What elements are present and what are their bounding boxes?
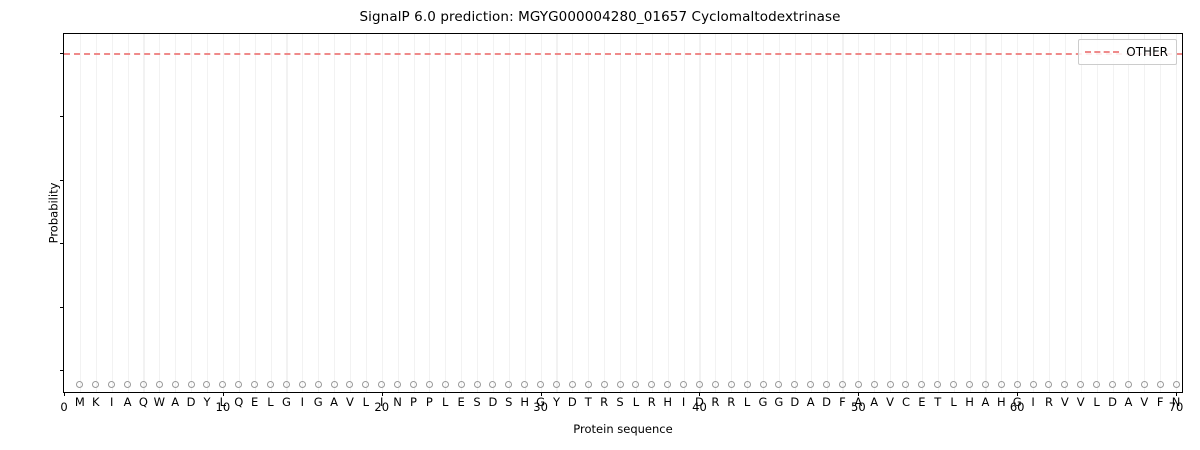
x-tick-label: 50 xyxy=(838,401,878,413)
x-tick-mark xyxy=(858,392,859,396)
x-tick-mark xyxy=(382,392,383,396)
y-tick-mark xyxy=(60,370,64,371)
x-tick-mark xyxy=(1017,392,1018,396)
residue-letters: MKIAQWADYLQELGIGAVLINPPLESDSHGYDTRSLRHID… xyxy=(64,34,1182,392)
y-tick-mark xyxy=(60,116,64,117)
page-title: SignalP 6.0 prediction: MGYG000004280_01… xyxy=(0,9,1200,25)
x-tick-label: 60 xyxy=(997,401,1037,413)
y-tick-mark xyxy=(60,53,64,54)
x-tick-label: 70 xyxy=(1156,401,1196,413)
signalp-prediction-figure: SignalP 6.0 prediction: MGYG000004280_01… xyxy=(0,0,1200,450)
legend-swatch-other xyxy=(1085,51,1119,53)
x-tick-label: 30 xyxy=(521,401,561,413)
x-tick-label: 20 xyxy=(362,401,402,413)
plot-area: MKIAQWADYLQELGIGAVLINPPLESDSHGYDTRSLRHID… xyxy=(63,33,1183,393)
legend-label-other: OTHER xyxy=(1126,45,1168,59)
x-tick-mark xyxy=(541,392,542,396)
x-tick-mark xyxy=(223,392,224,396)
y-tick-mark xyxy=(60,180,64,181)
y-tick-mark xyxy=(60,307,64,308)
x-tick-label: 40 xyxy=(679,401,719,413)
legend: OTHER xyxy=(1078,39,1177,65)
y-tick-mark xyxy=(60,243,64,244)
x-tick-mark xyxy=(699,392,700,396)
x-tick-mark xyxy=(64,392,65,396)
y-axis-label: Probability xyxy=(46,183,60,244)
x-axis-label: Protein sequence xyxy=(64,422,1182,436)
x-tick-label: 0 xyxy=(44,401,84,413)
x-tick-mark xyxy=(1176,392,1177,396)
x-tick-label: 10 xyxy=(203,401,243,413)
